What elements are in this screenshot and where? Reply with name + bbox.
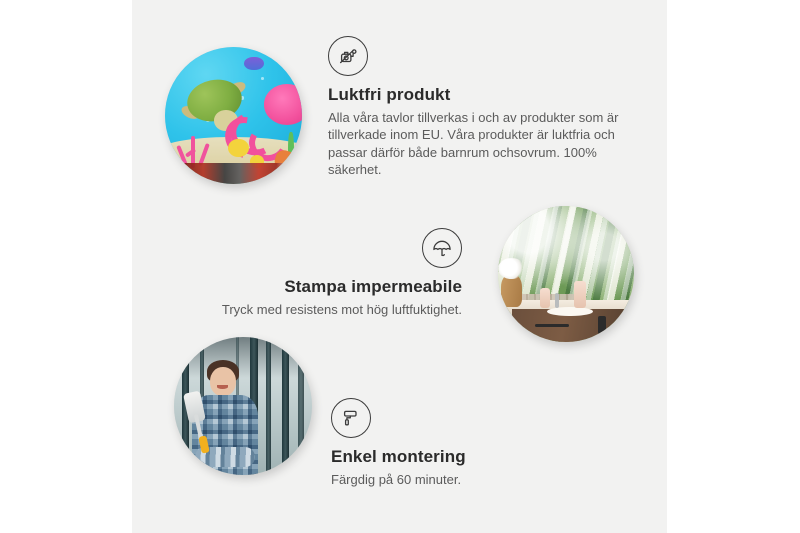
feature-description: Alla våra tavlor tillverkas i och av pro… [328, 109, 626, 179]
feature-waterproof-print: Stampa impermeabile Tryck med resistens … [216, 228, 462, 318]
feature-image-odor-free [165, 47, 302, 184]
feature-easy-installation: Enkel montering Färgdig på 60 minuter. [331, 398, 591, 488]
feature-description: Tryck med resistens mot hög luftfuktighe… [216, 301, 462, 318]
content-panel: Luktfri produkt Alla våra tavlor tillver… [132, 0, 667, 533]
feature-image-easy-installation [174, 337, 312, 475]
page-canvas: Luktfri produkt Alla våra tavlor tillver… [0, 0, 800, 533]
woman-with-paint-roller-forest [174, 337, 312, 475]
feature-title: Stampa impermeabile [216, 277, 462, 297]
feature-image-waterproof-print [498, 206, 634, 342]
feature-odor-free: Luktfri produkt Alla våra tavlor tillver… [328, 36, 626, 179]
paint-roller-icon [331, 398, 371, 438]
underwater-kids-illustration [165, 47, 302, 184]
feature-title: Luktfri produkt [328, 85, 626, 105]
bathroom-leaf-wallpaper [498, 206, 634, 342]
no-perfume-icon [328, 36, 368, 76]
feature-description: Färgdig på 60 minuter. [331, 471, 591, 488]
umbrella-icon [422, 228, 462, 268]
feature-title: Enkel montering [331, 447, 591, 467]
